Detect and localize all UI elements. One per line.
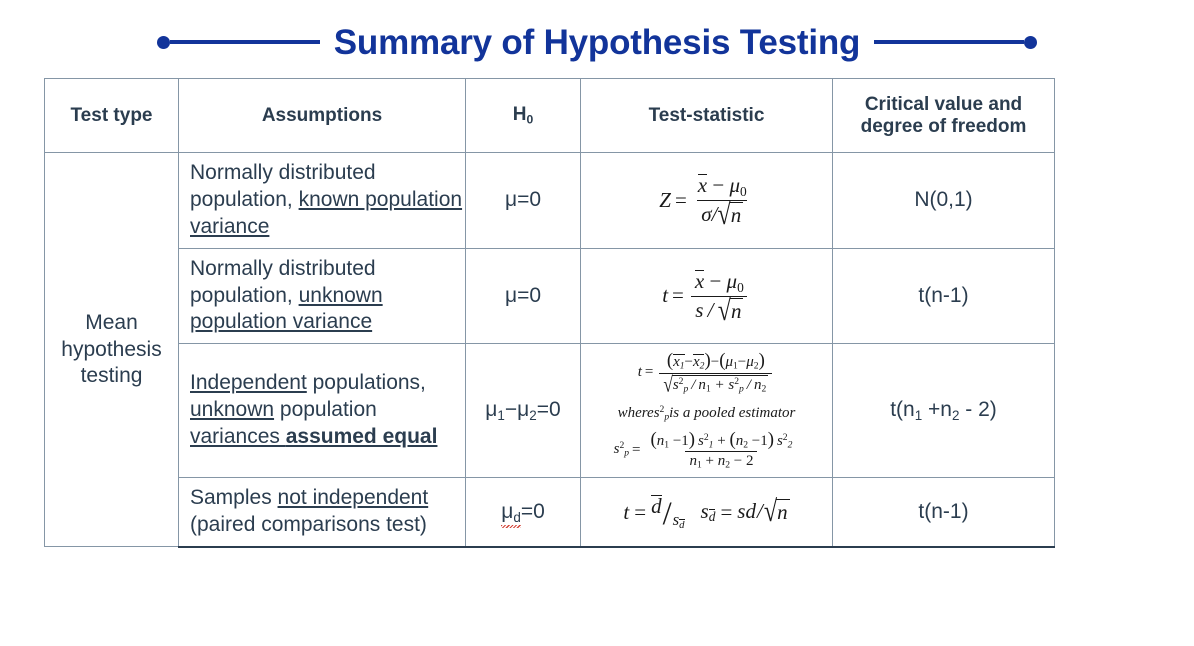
- decoration-line-left: [170, 40, 320, 44]
- formula-equals: =: [634, 500, 646, 525]
- formula-fraction: (n1 −1) s21 + (n2 −1) s22 n1 + n2 − 2: [647, 429, 797, 471]
- table-header-row: Test type Assumptions H0 Test-statistic …: [45, 79, 1055, 153]
- mu-subscript: 0: [737, 280, 744, 295]
- cell-test-statistic-row4: t = d / sd sd = sd/√n: [581, 478, 833, 547]
- formula-fraction: (x1−x2)−(μ1−μ2) √s2p / n1 + s2p / n2: [659, 350, 772, 394]
- crit-header-line2: degree of freedom: [861, 116, 1027, 137]
- formula-lhs: t: [662, 283, 668, 308]
- radicand: n: [730, 298, 744, 323]
- crit-header-line1: Critical value and: [865, 94, 1022, 115]
- assumptions-underlined-variances: variances: [190, 425, 286, 448]
- cell-test-statistic-row2: t = x − μ0 s / √n: [581, 248, 833, 344]
- mu-subscript-2: 2: [529, 408, 536, 423]
- formula-equals: =: [675, 188, 687, 213]
- mu-symbol-2: μ: [517, 398, 529, 421]
- title-decoration-left: [157, 36, 320, 49]
- decoration-line-right: [874, 40, 1024, 44]
- formula-denominator: √s2p / n1 + s2p / n2: [659, 373, 772, 395]
- pooled-note-inline: where s2p is a pooled estimator: [618, 402, 796, 425]
- x-bar: x: [695, 270, 704, 292]
- decoration-dot-right: [1024, 36, 1037, 49]
- formula-equals: =: [632, 439, 640, 462]
- formula-denominator: sd: [673, 510, 685, 531]
- h0-tail: =0: [521, 500, 545, 523]
- radicand: n: [730, 202, 744, 227]
- d-bar-sub-2: d: [709, 509, 716, 523]
- cell-test-statistic-row1: Z = x − μ0 σ/√n: [581, 153, 833, 249]
- formula-denominator: σ/√n: [697, 200, 747, 227]
- x-bar: x: [698, 174, 707, 196]
- cell-critical-value-row4: t(n-1): [833, 478, 1055, 547]
- x2-bar: x2: [693, 354, 704, 371]
- cell-h0-row4: μd=0: [466, 478, 581, 547]
- formula-denominator: n1 + n2 − 2: [685, 451, 757, 471]
- test-type-line-3: testing: [81, 364, 143, 387]
- x1-bar: x1: [673, 354, 684, 371]
- sigma-symbol: σ: [701, 202, 711, 226]
- formula-numerator: (x1−x2)−(μ1−μ2): [663, 350, 769, 373]
- assumptions-mid1-row3: populations,: [307, 371, 426, 394]
- formula-numerator: x − μ0: [694, 173, 751, 200]
- formula-numerator: d: [651, 494, 662, 519]
- assumptions-underlined-unknown: unknown: [190, 398, 274, 421]
- s-symbol-2: s: [701, 499, 709, 523]
- crit-lead: t(n: [890, 398, 915, 421]
- test-type-line-1: Mean: [85, 311, 138, 334]
- s-symbol: s: [695, 298, 703, 322]
- square-root: √n: [718, 298, 744, 323]
- formula-main-inline: t = (x1−x2)−(μ1−μ2) √s2p / n1 + s2p / n2: [638, 350, 776, 394]
- table-header: Test type Assumptions H0 Test-statistic …: [45, 79, 1055, 153]
- formula-t-test-two-sample-pooled: t = (x1−x2)−(μ1−μ2) √s2p / n1 + s2p / n2: [587, 350, 826, 471]
- cell-h0-row2: μ=0: [466, 248, 581, 344]
- h0-tail: =0: [537, 398, 561, 421]
- column-header-test-type: Test type: [45, 79, 179, 153]
- sd-symbol: sd: [737, 499, 756, 523]
- assumptions-underlined-row4: not independent: [278, 486, 429, 509]
- formula-numerator: x − μ0: [691, 269, 748, 296]
- sp-lhs: s2p: [614, 438, 629, 461]
- slide: Summary of Hypothesis Testing Test type …: [0, 0, 1194, 646]
- cell-assumptions-row4: Samples not independent (paired comparis…: [179, 478, 466, 547]
- formula-fraction: x − μ0 σ/√n: [694, 173, 751, 227]
- radical-sign: √: [718, 296, 731, 327]
- formula-lhs: t: [623, 500, 629, 525]
- radical-sign: √: [764, 497, 777, 530]
- formula-denominator: s / √n: [691, 296, 747, 323]
- formula-fraction: x − μ0 s / √n: [691, 269, 748, 323]
- note-lead: where: [618, 402, 654, 425]
- formula-line-main: t = (x1−x2)−(μ1−μ2) √s2p / n1 + s2p / n2: [587, 350, 826, 394]
- cell-test-statistic-row3: t = (x1−x2)−(μ1−μ2) √s2p / n1 + s2p / n2: [581, 344, 833, 478]
- summary-table-wrapper: Test type Assumptions H0 Test-statistic …: [44, 78, 1054, 548]
- column-header-test-statistic: Test-statistic: [581, 79, 833, 153]
- formula-numerator: (n1 −1) s21 + (n2 −1) s22: [647, 429, 797, 452]
- crit-tail: - 2): [959, 398, 996, 421]
- cell-critical-value-row3: t(n1 +n2 - 2): [833, 344, 1055, 478]
- cell-test-type: Mean hypothesis testing: [45, 153, 179, 547]
- cell-assumptions-row3: Independent populations, unknown populat…: [179, 344, 466, 478]
- square-root: √s2p / n1 + s2p / n2: [663, 375, 768, 395]
- formula-lhs: Z: [659, 188, 671, 213]
- hypothesis-testing-table: Test type Assumptions H0 Test-statistic …: [44, 78, 1055, 548]
- column-header-assumptions: Assumptions: [179, 79, 466, 153]
- formula-z-test: Z = x − μ0 σ/√n: [659, 173, 753, 227]
- page-title: Summary of Hypothesis Testing: [320, 25, 874, 60]
- minus-symbol: −: [505, 398, 517, 421]
- formula-equals-2: =: [720, 500, 732, 525]
- cell-critical-value-row1: N(0,1): [833, 153, 1055, 249]
- table-row: Mean hypothesis testing Normally distrib…: [45, 153, 1055, 249]
- crit-mid: +n: [922, 398, 952, 421]
- assumptions-lead-row4: Samples: [190, 486, 278, 509]
- decoration-dot-left: [157, 36, 170, 49]
- slash-symbol: /: [662, 496, 673, 533]
- table-row: Independent populations, unknown populat…: [45, 344, 1055, 478]
- mu-subscript-d: d: [513, 509, 520, 524]
- formula-t-test-one-sample: t = x − μ0 s / √n: [662, 269, 751, 323]
- radical-sign: √: [717, 200, 730, 231]
- assumptions-underlined-independent: Independent: [190, 371, 307, 394]
- formula-lhs: t: [638, 361, 642, 384]
- h0-base: H: [513, 104, 527, 125]
- title-row: Summary of Hypothesis Testing: [0, 18, 1194, 66]
- s-subscript: d: [679, 519, 684, 531]
- radicand: s2p / n1 + s2p / n2: [672, 375, 768, 395]
- mu-symbol: μ: [727, 269, 738, 293]
- cell-h0-row1: μ=0: [466, 153, 581, 249]
- cell-assumptions-row2: Normally distributed population, unknown…: [179, 248, 466, 344]
- formula-equals: =: [645, 361, 653, 384]
- column-header-null-hypothesis: H0: [466, 79, 581, 153]
- square-root: √n: [764, 499, 790, 525]
- sd-bar-definition: sd: [701, 499, 716, 526]
- mu-symbol: μ: [485, 398, 497, 421]
- square-root: √n: [717, 202, 743, 227]
- table-body: Mean hypothesis testing Normally distrib…: [45, 153, 1055, 547]
- pooled-variance-inline: s2p = (n1 −1) s21 + (n2 −1) s22 n1 + n2 …: [614, 429, 800, 471]
- table-row: Samples not independent (paired comparis…: [45, 478, 1055, 547]
- note-tail: is a pooled estimator: [669, 402, 795, 425]
- cell-h0-row3: μ1−μ2=0: [466, 344, 581, 478]
- d-bar: d: [651, 495, 662, 517]
- s-subscript-2: d: [709, 509, 716, 524]
- slash-2: /: [757, 499, 763, 523]
- cell-assumptions-row1: Normally distributed population, known p…: [179, 153, 466, 249]
- radicand: n: [776, 499, 790, 525]
- assumptions-mid2-row3: population: [274, 398, 377, 421]
- cell-critical-value-row2: t(n-1): [833, 248, 1055, 344]
- slash: /: [708, 298, 714, 322]
- mu-subscript: 0: [740, 184, 747, 199]
- table-row: Normally distributed population, unknown…: [45, 248, 1055, 344]
- assumptions-bold-assumed-equal: assumed equal: [286, 425, 438, 448]
- formula-paired-t-test: t = d / sd sd = sd/√n: [623, 494, 789, 531]
- mu-subscript-1: 1: [497, 408, 504, 423]
- formula-line-pooled-variance: s2p = (n1 −1) s21 + (n2 −1) s22 n1 + n2 …: [587, 429, 826, 471]
- mu-symbol: μ: [729, 173, 740, 197]
- d-bar-sub: d: [679, 519, 684, 531]
- column-header-critical-value: Critical value and degree of freedom: [833, 79, 1055, 153]
- diagonal-fraction: d / sd: [651, 494, 684, 531]
- assumptions-line2-row4: (paired comparisons test): [190, 513, 427, 536]
- h0-subscript: 0: [526, 112, 533, 126]
- sd-value: sd/√n: [737, 499, 789, 525]
- title-decoration-right: [874, 36, 1037, 49]
- formula-pooled-note: where s2p is a pooled estimator: [587, 402, 826, 425]
- sp-symbol: s2p: [654, 402, 669, 425]
- mu-symbol: μ: [501, 500, 513, 523]
- radical-sign: √: [663, 374, 672, 399]
- spellcheck-underline: μd: [501, 500, 521, 525]
- test-type-line-2: hypothesis: [61, 338, 161, 361]
- formula-equals: =: [672, 283, 684, 308]
